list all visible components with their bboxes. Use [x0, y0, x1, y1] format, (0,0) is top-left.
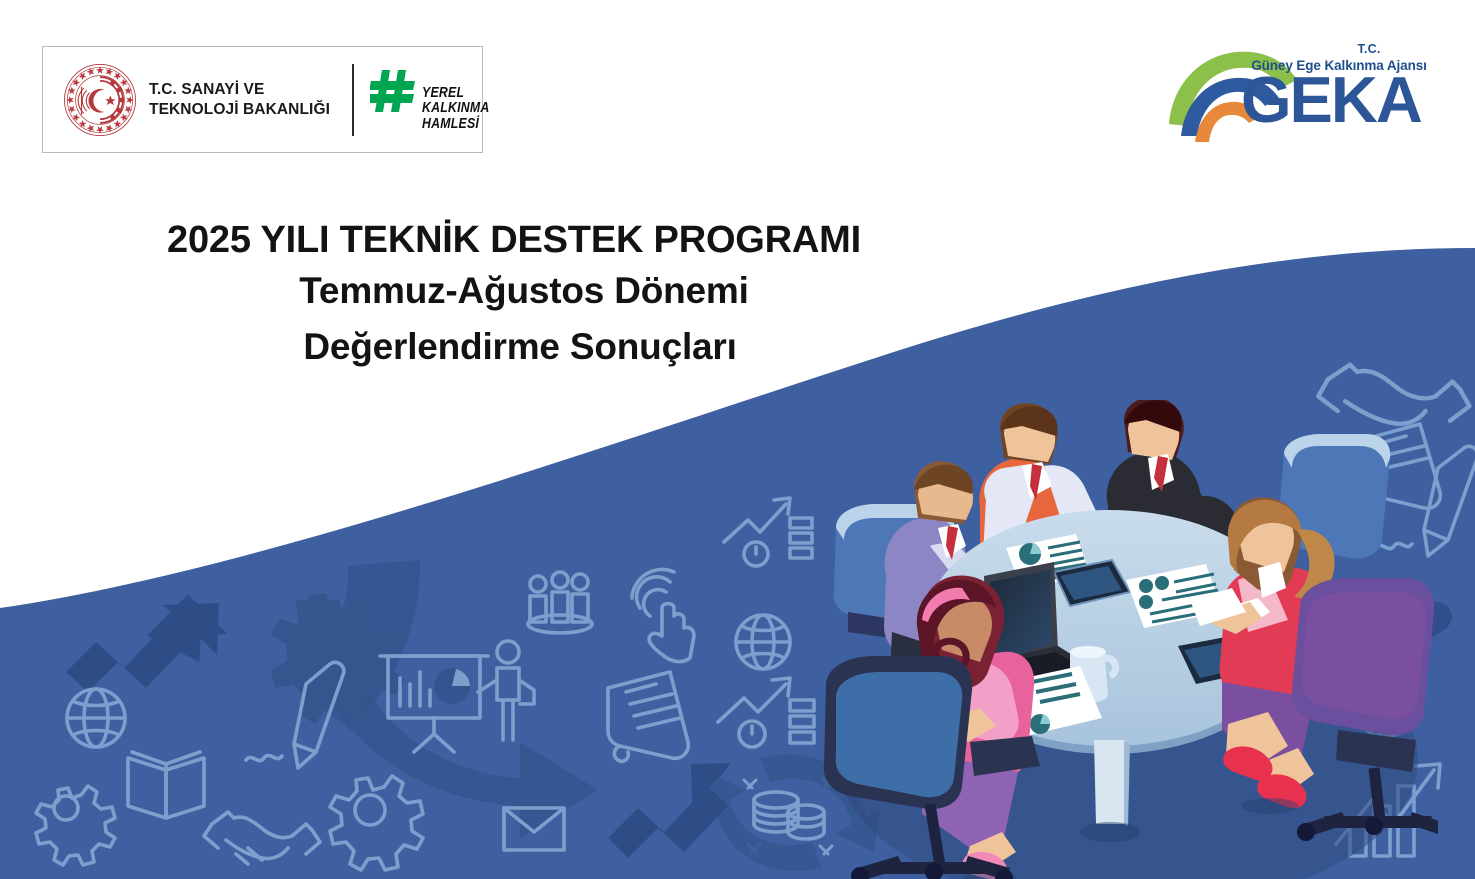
- ministry-logo-box: T.C. SANAYİ VE TEKNOLOJİ BAKANLIĞI YEREL…: [42, 46, 483, 153]
- presentation-slide: T.C. SANAYİ VE TEKNOLOJİ BAKANLIĞI YEREL…: [0, 0, 1475, 879]
- crescent-icon: [88, 88, 104, 112]
- page-subtitle-results: Değerlendirme Sonuçları: [0, 318, 1010, 375]
- ministry-name-label: T.C. SANAYİ VE TEKNOLOJİ BAKANLIĞI: [149, 80, 330, 120]
- page-title: 2025 YILI TEKNİK DESTEK PROGRAMI: [0, 218, 1010, 263]
- slide-title-block: 2025 YILI TEKNİK DESTEK PROGRAMI Temmuz-…: [0, 218, 1010, 376]
- hamle-wordmark: YEREL KALKINMA HAMLESİ: [422, 85, 490, 131]
- business-team-meeting-illustration: [818, 400, 1438, 879]
- page-subtitle-period: Temmuz-Ağustos Dönemi: [0, 263, 1010, 319]
- yerel-kalkinma-hamlesi-logo: YEREL KALKINMA HAMLESİ: [370, 68, 504, 131]
- hashtag-icon: [370, 68, 418, 114]
- tc-sanayi-teknoloji-bakanligi-emblem: [63, 63, 137, 137]
- geka-tc-label: T.C.: [1309, 42, 1429, 56]
- star-icon: [105, 95, 115, 105]
- geka-logo: T.C. Güney Ege Kalkınma Ajansı GEKA: [1163, 40, 1431, 150]
- geka-wordmark: GEKA: [1241, 67, 1437, 132]
- logo-divider: [352, 64, 354, 136]
